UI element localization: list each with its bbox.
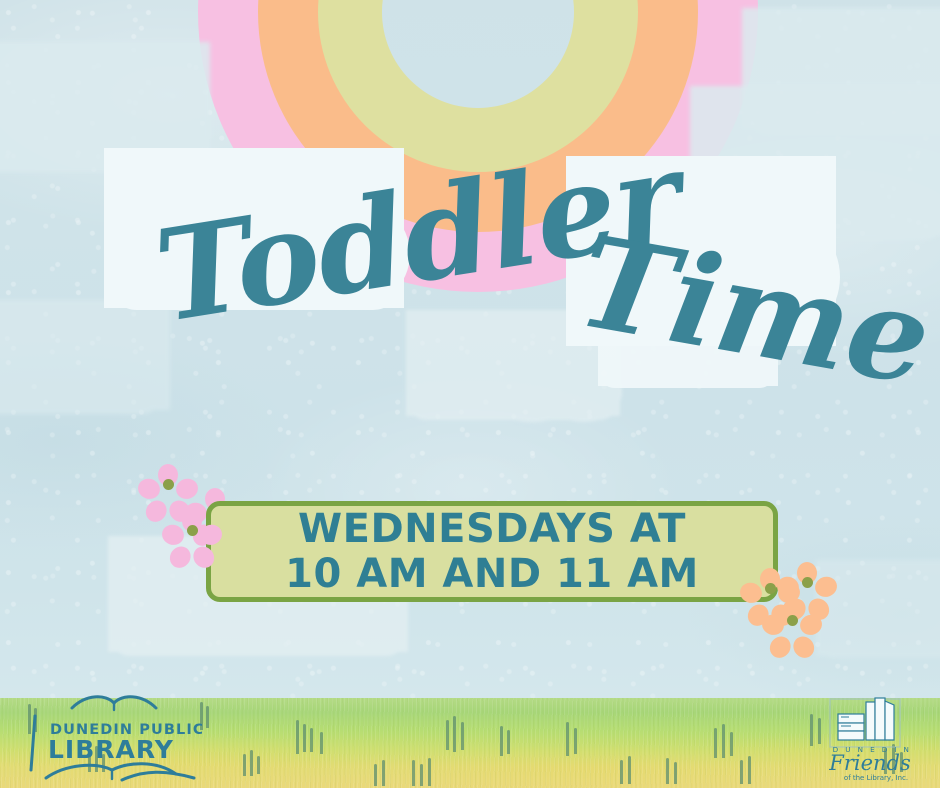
grass-blade [628,756,631,784]
library-logo-line-two: LIBRARY [48,735,174,764]
flower-pink-1 [146,462,190,506]
grass-blade [257,756,260,774]
schedule-banner: WEDNESDAYS AT 10 AM AND 11 AM [206,501,778,602]
friends-of-the-library-logo: D U N E D I N Friends of the Library, In… [816,696,928,784]
grass-blade [206,706,209,728]
friends-logo-script-text: Friends [828,751,911,775]
book-spine-icon [31,716,35,770]
dunedin-public-library-logo: DUNEDIN PUBLIC LIBRARY [26,694,202,782]
grass-blade [620,760,623,784]
schedule-line-day: WEDNESDAYS AT [298,507,686,552]
grass-blade [674,762,677,784]
grass-blade [420,764,423,786]
friends-logo-sub-text: of the Library, Inc. [844,774,908,782]
grass-blade [566,722,569,756]
grass-blade [730,732,733,756]
grass-blade [446,720,449,750]
grass-blade [303,724,306,752]
toddler-time-flyer: Toddler Time WEDNESDAYS AT 10 AM AND 11 … [0,0,940,788]
grass-blade [310,728,313,752]
grass-blade [243,754,246,776]
grass-blade [748,756,751,784]
grass-blade [461,722,464,750]
grass-blade [722,724,725,758]
event-title: Toddler Time [0,0,940,788]
grass-blade [382,760,385,786]
grass-blade [714,728,717,758]
grass-blade [428,758,431,786]
title-word-time: Time [570,218,938,403]
grass-blade [320,732,323,754]
book-bottom-icon [46,764,194,780]
book-top-icon [72,697,156,710]
schedule-line-times: 10 AM AND 11 AM [285,552,699,597]
grass-blade [574,728,577,754]
books-icon [838,698,894,740]
grass-blade [740,760,743,784]
grass-blade [296,720,299,754]
grass-blade [374,764,377,786]
grass-blade [250,750,253,776]
grass-blade [666,758,669,784]
grass-blade [507,730,510,754]
grass-blade [500,726,503,756]
grass-blade [453,716,456,752]
grass-blade [412,760,415,786]
grass-blade [810,714,813,746]
flower-pink-3 [170,508,214,552]
flower-peach-3 [770,598,814,642]
